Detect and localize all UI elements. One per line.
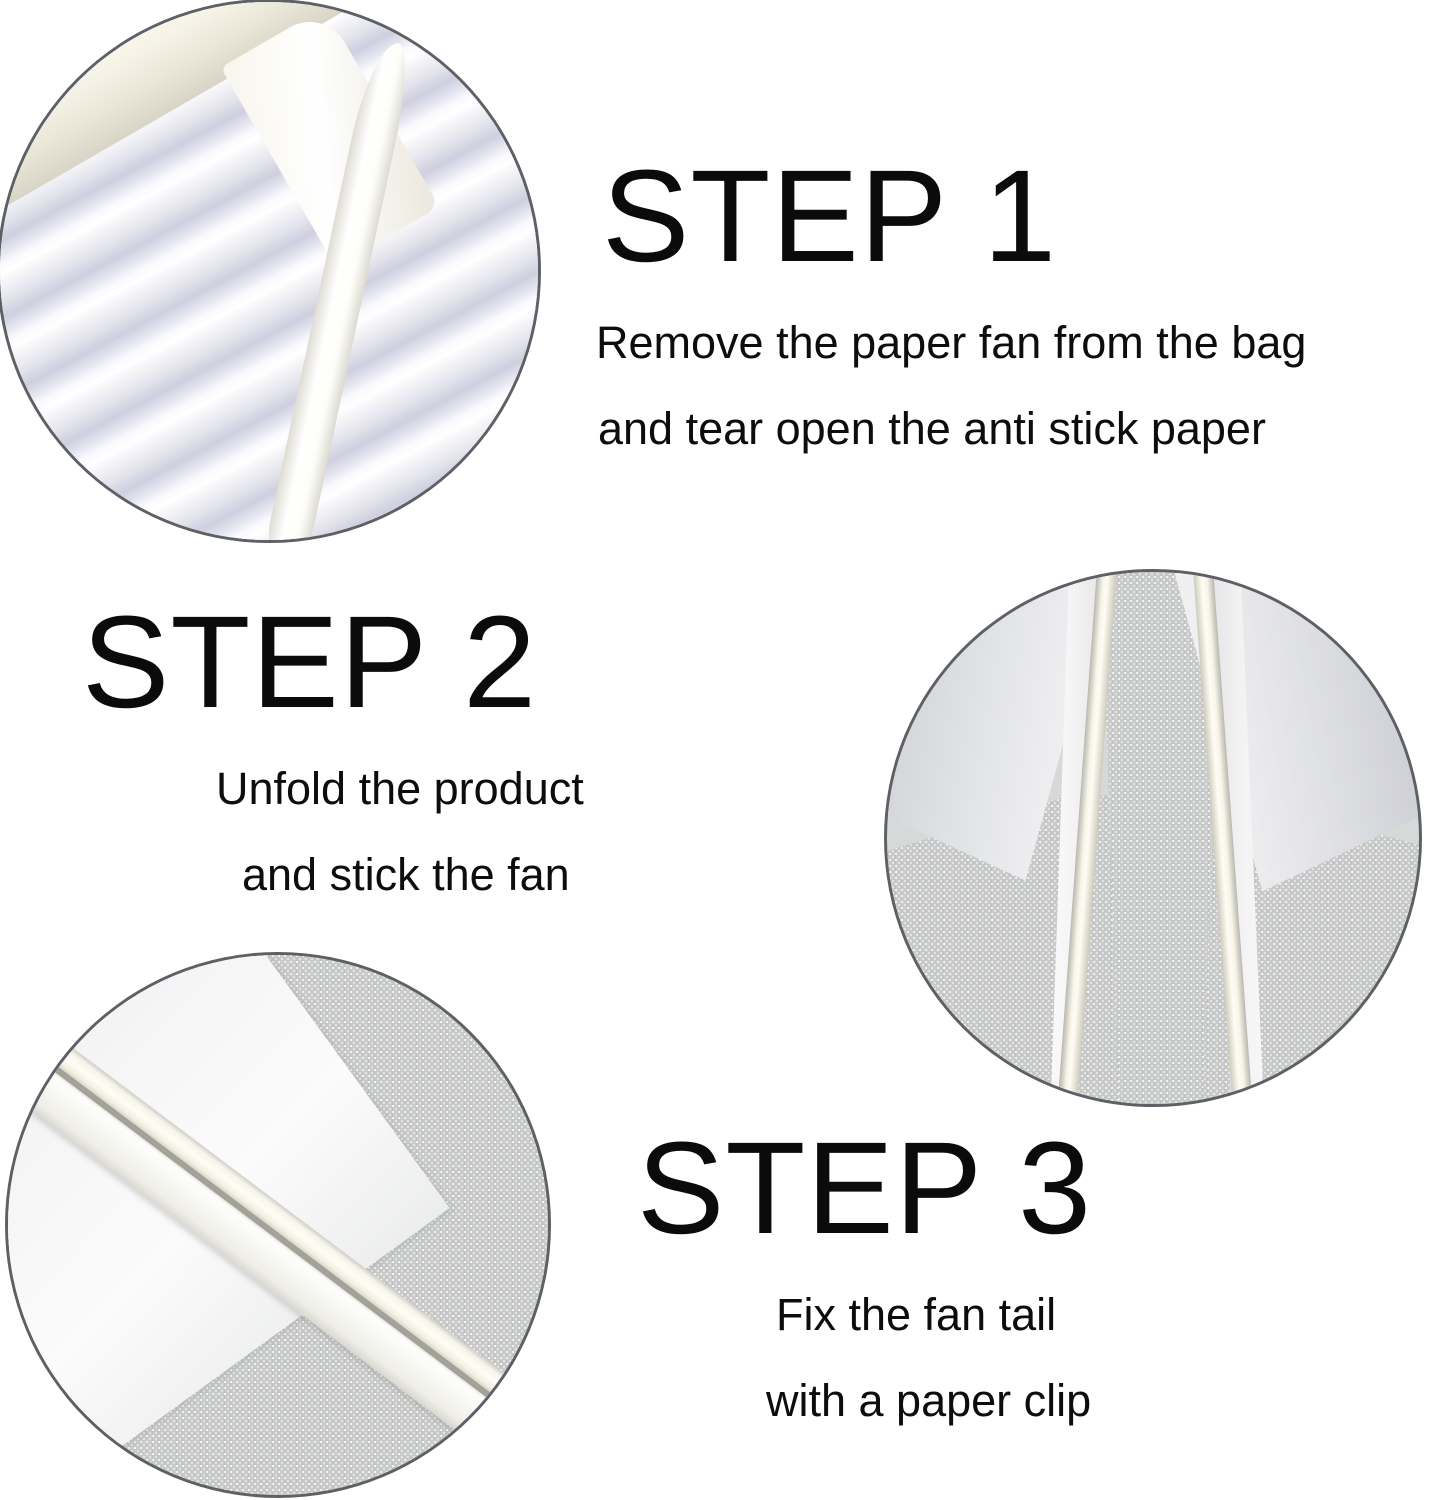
step-1-body-line-1: Remove the paper fan from the bag bbox=[596, 300, 1306, 386]
step-3-photo-circle bbox=[8, 955, 548, 1495]
step-2-body-line-1: Unfold the product bbox=[216, 746, 584, 832]
step-3-heading: STEP 3 bbox=[637, 1122, 1092, 1253]
step-2-body: Unfold the product and stick the fan bbox=[216, 746, 584, 918]
step-1-photo-circle bbox=[0, 2, 538, 540]
step-3-body-line-2: with a paper clip bbox=[766, 1358, 1091, 1444]
step-1-photo-inner bbox=[0, 2, 538, 540]
step-3-body-line-1: Fix the fan tail bbox=[776, 1272, 1091, 1358]
step-2-body-line-2: and stick the fan bbox=[242, 832, 584, 918]
step-1-body-line-2: and tear open the anti stick paper bbox=[598, 386, 1306, 472]
step-1-heading: STEP 1 bbox=[602, 150, 1057, 281]
step-2-heading: STEP 2 bbox=[82, 596, 537, 727]
instruction-infographic: STEP 1 Remove the paper fan from the bag… bbox=[0, 0, 1441, 1500]
step-2-photo-inner bbox=[887, 572, 1419, 1104]
step-3-photo-inner bbox=[8, 955, 548, 1495]
step-3-body: Fix the fan tail with a paper clip bbox=[776, 1272, 1091, 1444]
step-1-body: Remove the paper fan from the bag and te… bbox=[596, 300, 1306, 472]
step-2-photo-circle bbox=[887, 572, 1419, 1104]
